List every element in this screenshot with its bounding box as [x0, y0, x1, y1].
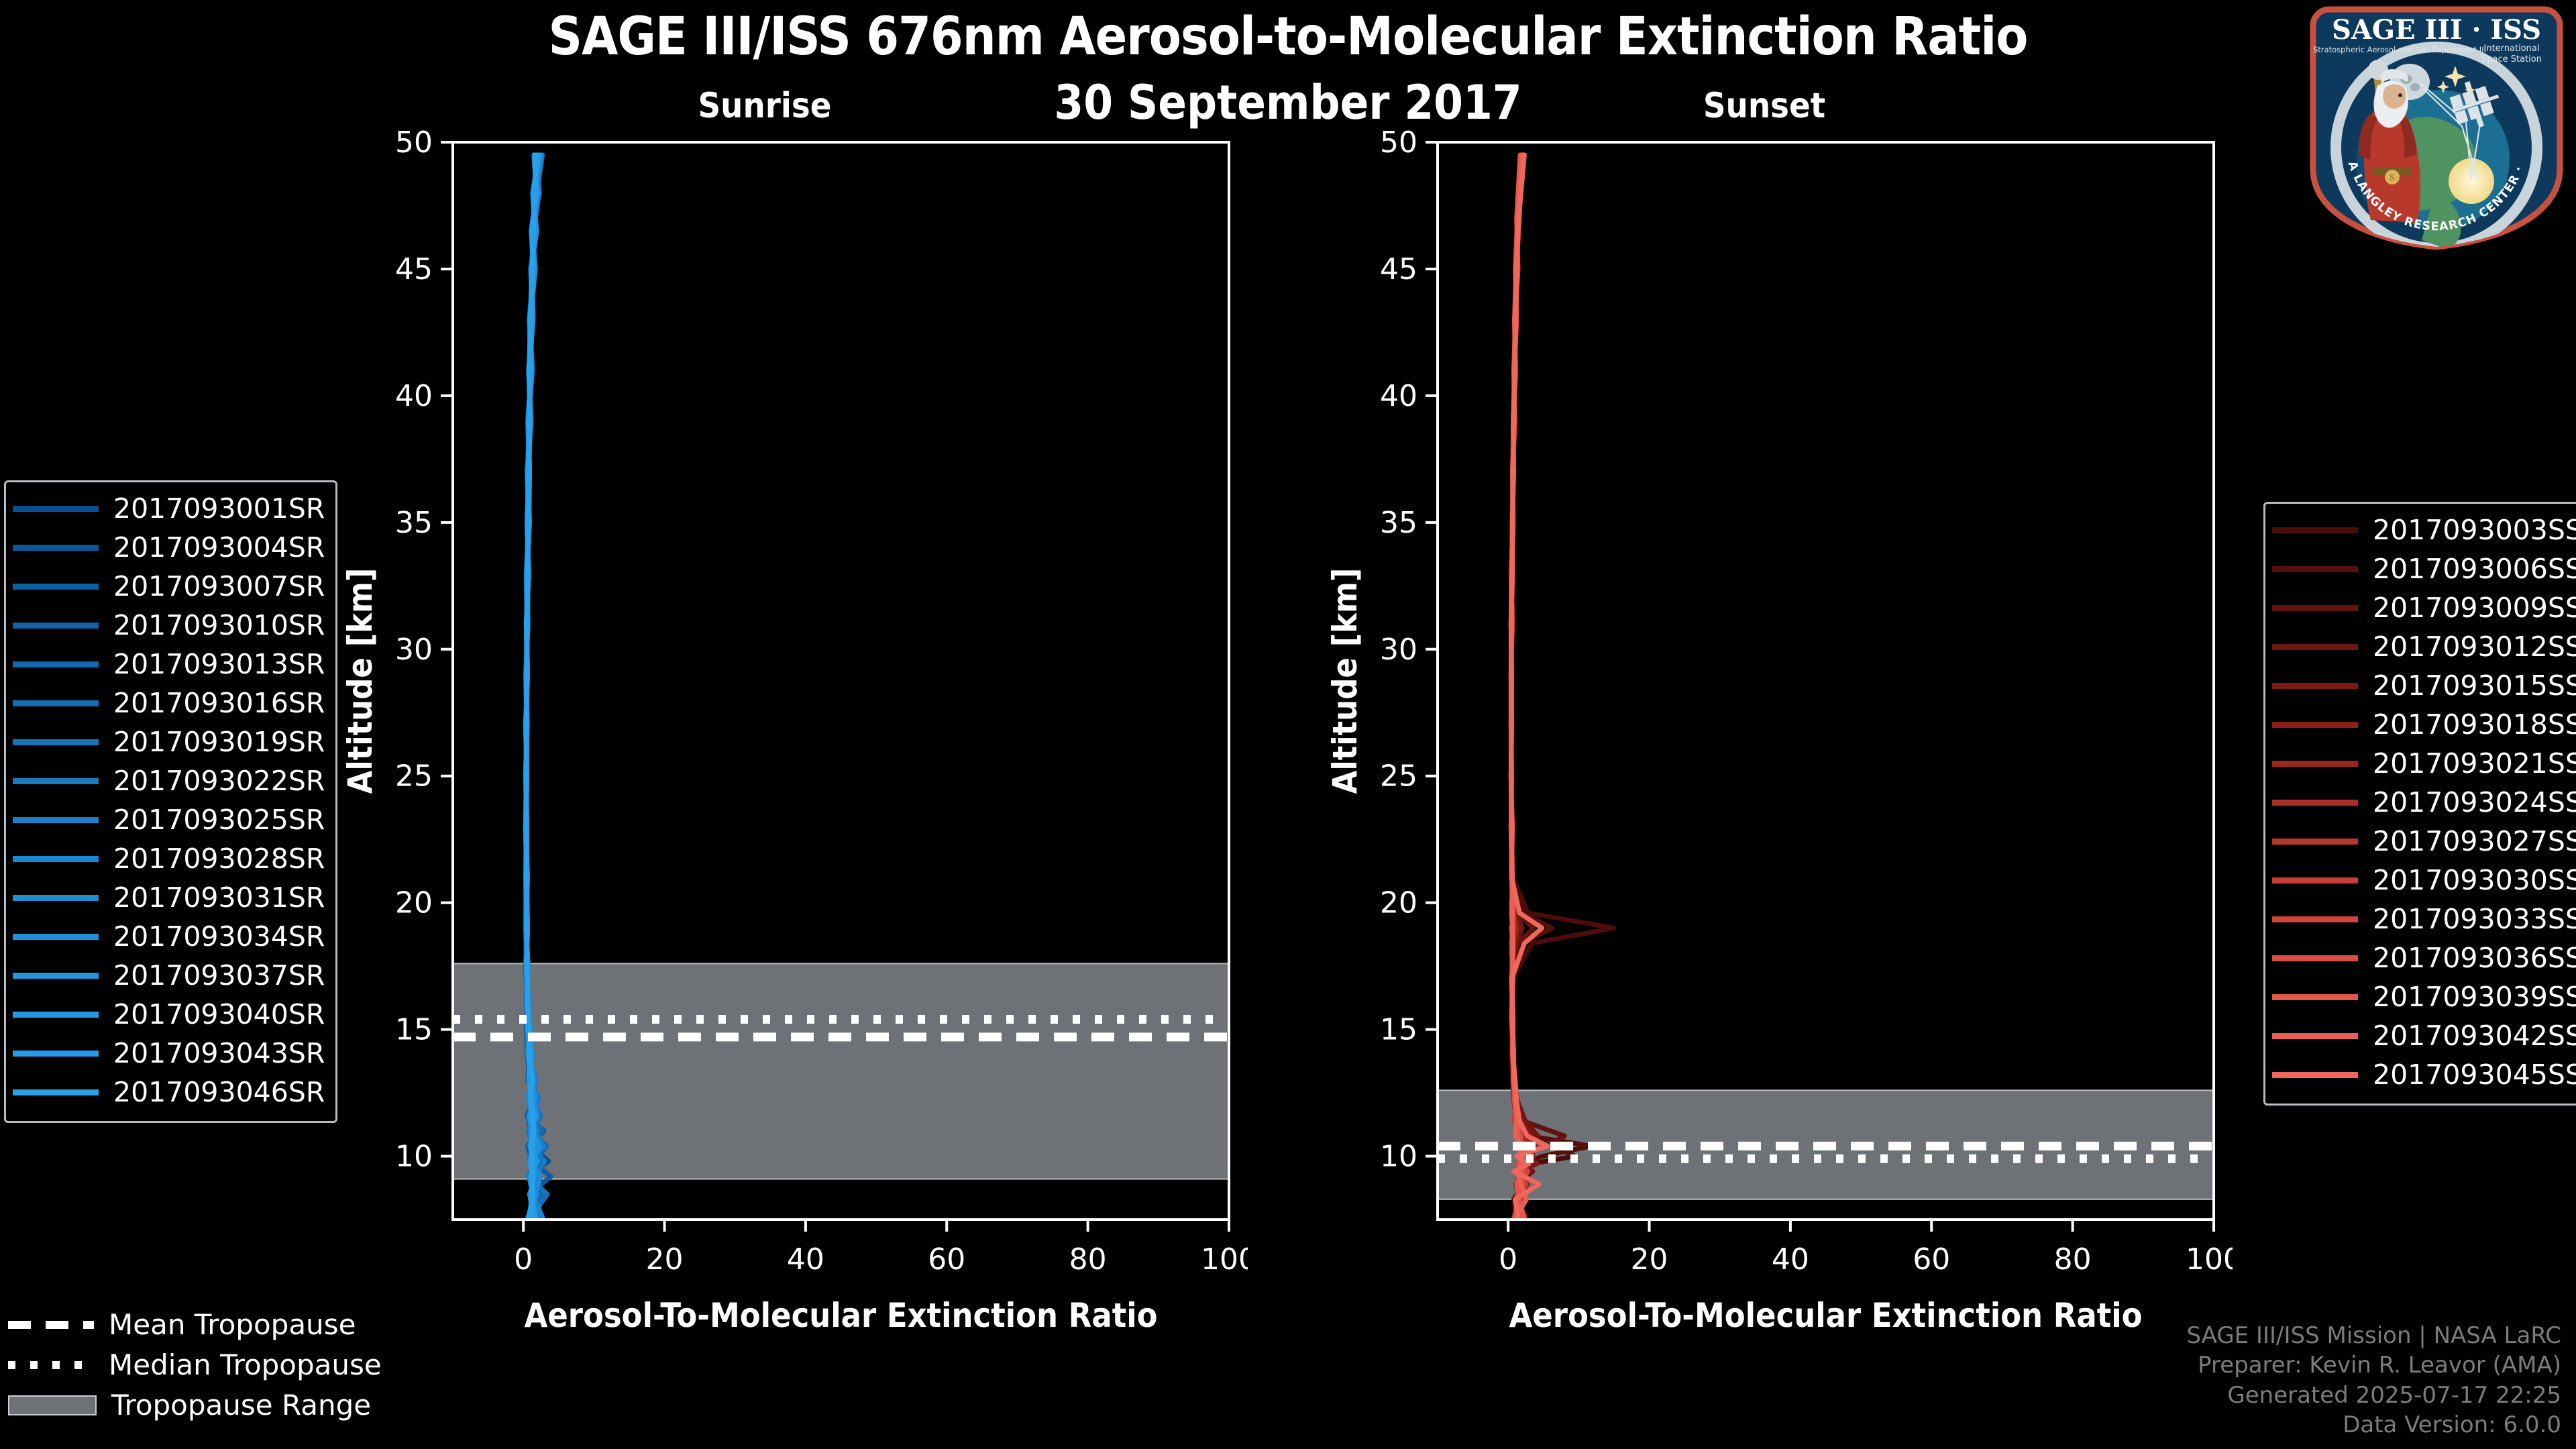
y-tick-label: 20	[395, 886, 433, 920]
legend-color-swatch	[13, 856, 99, 862]
legend-item-label: 2017093037SR	[113, 962, 325, 989]
legend-color-swatch	[13, 1089, 99, 1095]
sunset-chart-svg: 101520253035404550020406080100Aerosol-To…	[1320, 121, 2233, 1348]
legend-item[interactable]: 2017093036SS	[2272, 938, 2576, 977]
x-tick-label: 40	[1772, 1242, 1809, 1277]
x-axis-title: Aerosol-To-Molecular Extinction Ratio	[524, 1296, 1157, 1335]
legend-item[interactable]: 2017093046SR	[13, 1073, 325, 1112]
credit-line: Preparer: Kevin R. Leavor (AMA)	[2186, 1350, 2561, 1380]
legend-item-label: 2017093013SR	[113, 651, 325, 678]
tropopause-legend-label: Median Tropopause	[109, 1351, 382, 1379]
patch-subtitle-right-line1: International	[2484, 44, 2540, 54]
legend-color-swatch	[13, 895, 99, 901]
legend-item-label: 2017093006SS	[2373, 555, 2576, 583]
legend-color-swatch	[13, 584, 99, 590]
x-tick-label: 0	[1499, 1242, 1517, 1277]
legend-item-label: 2017093012SS	[2373, 633, 2576, 661]
date-subtitle: 30 September 2017	[0, 79, 2576, 126]
credits-block: SAGE III/ISS Mission | NASA LaRCPreparer…	[2186, 1321, 2561, 1440]
legend-item-label: 2017093016SR	[113, 690, 325, 717]
patch-title: SAGE III · ISS	[2332, 14, 2541, 46]
y-tick-label: 50	[1380, 125, 1417, 160]
y-tick-label: 40	[1380, 379, 1417, 413]
legend-color-swatch	[2272, 644, 2358, 650]
legend-item-label: 2017093042SS	[2373, 1022, 2576, 1050]
legend-item-label: 2017093046SR	[113, 1079, 325, 1106]
sunrise-event-legend: 2017093001SR2017093004SR2017093007SR2017…	[4, 480, 337, 1123]
legend-color-swatch	[2272, 527, 2358, 533]
legend-item-label: 2017093003SS	[2373, 517, 2576, 544]
legend-item[interactable]: 2017093024SS	[2272, 783, 2576, 822]
legend-item[interactable]: 2017093015SS	[2272, 666, 2576, 705]
x-tick-label: 60	[928, 1242, 965, 1277]
y-tick-label: 25	[395, 759, 433, 794]
legend-item[interactable]: 2017093010SR	[13, 606, 325, 645]
legend-color-swatch	[2272, 916, 2358, 922]
legend-item[interactable]: 2017093043SR	[13, 1034, 325, 1073]
legend-color-swatch	[2272, 722, 2358, 728]
legend-item[interactable]: 2017093018SS	[2272, 705, 2576, 744]
legend-color-swatch	[2272, 800, 2358, 806]
sunset-plot: 101520253035404550020406080100Aerosol-To…	[1320, 121, 2233, 1348]
legend-item-label: 2017093025SR	[113, 806, 325, 834]
legend-item-label: 2017093007SR	[113, 573, 325, 600]
legend-color-swatch	[13, 817, 99, 823]
legend-item[interactable]: 2017093013SR	[13, 645, 325, 684]
legend-color-swatch	[13, 506, 99, 512]
y-tick-label: 45	[395, 252, 433, 286]
legend-item[interactable]: 2017093012SS	[2272, 627, 2576, 666]
tropopause-legend-label: Tropopause Range	[111, 1391, 371, 1419]
x-tick-label: 20	[1631, 1242, 1668, 1277]
sunset-event-legend: 2017093003SS2017093006SS2017093009SS2017…	[2263, 502, 2576, 1106]
legend-item-label: 2017093034SR	[113, 923, 325, 951]
legend-item-label: 2017093045SS	[2373, 1061, 2576, 1089]
page-title: SAGE III/ISS 676nm Aerosol-to-Molecular …	[0, 11, 2576, 63]
legend-item-label: 2017093019SR	[113, 729, 325, 756]
legend-item-label: 2017093028SR	[113, 845, 325, 873]
legend-item-label: 2017093009SS	[2373, 594, 2576, 622]
legend-color-swatch	[2272, 683, 2358, 689]
sunrise-plot: 101520253035404550020406080100Aerosol-To…	[335, 121, 1248, 1348]
tropopause-range-band	[453, 963, 1229, 1179]
median-tropopause-swatch	[8, 1361, 94, 1369]
legend-color-swatch	[2272, 566, 2358, 572]
y-tick-label: 10	[1380, 1140, 1417, 1174]
legend-item[interactable]: 2017093039SS	[2272, 977, 2576, 1016]
x-tick-label: 100	[2186, 1242, 2233, 1277]
credit-line: Generated 2025-07-17 22:25	[2186, 1381, 2561, 1410]
legend-color-swatch	[13, 1012, 99, 1018]
legend-color-swatch	[13, 739, 99, 745]
y-tick-label: 35	[1380, 506, 1417, 540]
legend-item[interactable]: 2017093001SR	[13, 489, 325, 528]
tropopause-legend: Mean TropopauseMedian TropopauseTropopau…	[8, 1305, 382, 1426]
legend-item[interactable]: 2017093007SR	[13, 567, 325, 606]
legend-color-swatch	[13, 934, 99, 940]
legend-color-swatch	[2272, 1033, 2358, 1039]
legend-item-label: 2017093033SS	[2373, 906, 2576, 933]
legend-item[interactable]: 2017093031SR	[13, 878, 325, 917]
sunrise-panel-title: Sunrise	[590, 89, 939, 123]
patch-subtitle-right-line2: Space Station	[2481, 54, 2542, 64]
legend-item[interactable]: 2017093027SS	[2272, 822, 2576, 861]
legend-item-label: 2017093004SR	[113, 534, 325, 561]
legend-item[interactable]: 2017093022SR	[13, 761, 325, 800]
legend-color-swatch	[2272, 994, 2358, 1000]
y-tick-label: 15	[395, 1013, 433, 1047]
x-tick-label: 0	[514, 1242, 533, 1277]
sunset-panel-title: Sunset	[1590, 89, 1939, 123]
tropopause-legend-item: Mean Tropopause	[8, 1305, 382, 1345]
credit-line: SAGE III/ISS Mission | NASA LaRC	[2186, 1321, 2561, 1350]
legend-item-label: 2017093031SR	[113, 884, 325, 912]
legend-color-swatch	[2272, 955, 2358, 961]
legend-color-swatch	[13, 700, 99, 706]
legend-item-label: 2017093043SR	[113, 1040, 325, 1067]
legend-item[interactable]: 2017093033SS	[2272, 900, 2576, 938]
sage-iii-iss-mission-patch-logo: S SAGE III · ISS Stratospheric Aerosol a…	[2302, 1, 2571, 256]
y-tick-label: 45	[1380, 252, 1417, 286]
legend-item-label: 2017093027SS	[2373, 828, 2576, 855]
y-tick-label: 20	[1380, 886, 1417, 920]
legend-item-label: 2017093001SR	[113, 495, 325, 523]
tropopause-legend-label: Mean Tropopause	[109, 1311, 356, 1339]
legend-color-swatch	[2272, 761, 2358, 767]
legend-item[interactable]: 2017093004SR	[13, 528, 325, 567]
y-tick-label: 50	[395, 125, 433, 160]
tropopause-range-swatch	[8, 1395, 97, 1415]
legend-item[interactable]: 2017093003SS	[2272, 511, 2576, 549]
legend-item-label: 2017093015SS	[2373, 672, 2576, 700]
legend-item-label: 2017093010SR	[113, 612, 325, 639]
y-tick-label: 10	[395, 1140, 433, 1174]
tropopause-legend-item: Tropopause Range	[8, 1385, 382, 1426]
x-tick-label: 40	[787, 1242, 824, 1277]
y-tick-label: 30	[1380, 633, 1417, 667]
x-tick-label: 80	[2054, 1242, 2092, 1277]
y-tick-label: 15	[1380, 1013, 1417, 1047]
legend-item[interactable]: 2017093009SS	[2272, 588, 2576, 627]
legend-item[interactable]: 2017093019SR	[13, 722, 325, 761]
svg-text:S: S	[2390, 173, 2395, 182]
legend-color-swatch	[13, 778, 99, 784]
legend-color-swatch	[13, 973, 99, 979]
legend-color-swatch	[13, 1051, 99, 1057]
mean-tropopause-swatch	[8, 1321, 94, 1329]
y-axis-title: Altitude [km]	[1326, 568, 1364, 794]
legend-item[interactable]: 2017093040SR	[13, 995, 325, 1034]
x-tick-label: 20	[646, 1242, 684, 1277]
x-tick-label: 80	[1069, 1242, 1107, 1277]
legend-item-label: 2017093036SS	[2373, 945, 2576, 972]
legend-item-label: 2017093040SR	[113, 1001, 325, 1028]
legend-item[interactable]: 2017093030SS	[2272, 861, 2576, 900]
legend-item[interactable]: 2017093042SS	[2272, 1016, 2576, 1055]
x-tick-label: 60	[1913, 1242, 1950, 1277]
legend-item-label: 2017093039SS	[2373, 983, 2576, 1011]
x-tick-label: 100	[1201, 1242, 1248, 1277]
legend-item-label: 2017093022SR	[113, 767, 325, 795]
legend-item[interactable]: 2017093028SR	[13, 839, 325, 878]
legend-color-swatch	[2272, 605, 2358, 611]
legend-item-label: 2017093021SS	[2373, 750, 2576, 777]
y-axis-title: Altitude [km]	[341, 568, 380, 794]
x-axis-title: Aerosol-To-Molecular Extinction Ratio	[1509, 1296, 2142, 1335]
tropopause-legend-item: Median Tropopause	[8, 1345, 382, 1385]
y-tick-label: 30	[395, 633, 433, 667]
legend-item[interactable]: 2017093037SR	[13, 956, 325, 995]
sunrise-chart-svg: 101520253035404550020406080100Aerosol-To…	[335, 121, 1248, 1348]
patch-subtitle-left: Stratospheric Aerosol and Gas Experiment…	[2313, 45, 2486, 54]
legend-color-swatch	[13, 623, 99, 629]
legend-color-swatch	[2272, 839, 2358, 845]
legend-item-label: 2017093030SS	[2373, 867, 2576, 894]
y-tick-label: 40	[395, 379, 433, 413]
y-tick-label: 25	[1380, 759, 1417, 794]
legend-item[interactable]: 2017093025SR	[13, 800, 325, 839]
legend-item[interactable]: 2017093034SR	[13, 917, 325, 956]
legend-item[interactable]: 2017093045SS	[2272, 1055, 2576, 1094]
legend-item-label: 2017093018SS	[2373, 711, 2576, 739]
legend-item-label: 2017093024SS	[2373, 789, 2576, 816]
y-tick-label: 35	[395, 506, 433, 540]
legend-item[interactable]: 2017093006SS	[2272, 549, 2576, 588]
legend-color-swatch	[2272, 1072, 2358, 1078]
legend-color-swatch	[2272, 877, 2358, 883]
legend-item[interactable]: 2017093016SR	[13, 684, 325, 722]
credit-line: Data Version: 6.0.0	[2186, 1410, 2561, 1440]
legend-color-swatch	[13, 661, 99, 667]
legend-item[interactable]: 2017093021SS	[2272, 744, 2576, 783]
plot-background	[1438, 142, 2214, 1220]
legend-color-swatch	[13, 545, 99, 551]
